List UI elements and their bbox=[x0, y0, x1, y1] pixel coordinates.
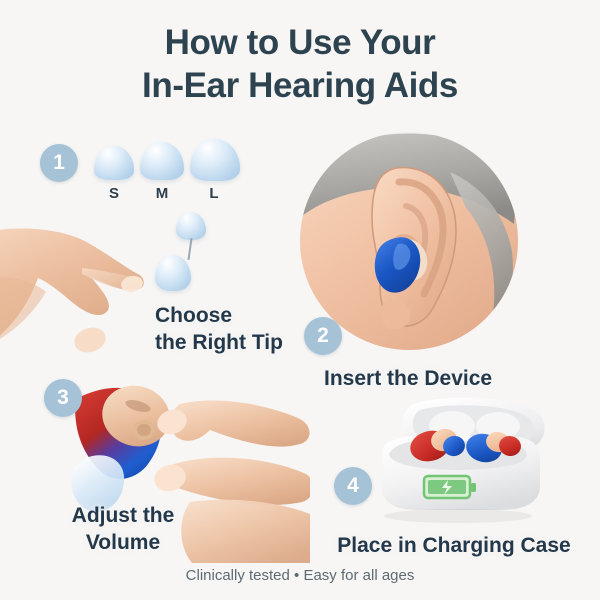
step-3-caption-line-2: Volume bbox=[28, 530, 218, 557]
charging-case-illustration bbox=[358, 398, 558, 528]
footer-tagline: Clinically tested • Easy for all ages bbox=[0, 567, 600, 584]
ear-illustration bbox=[300, 132, 518, 350]
title-line-2: In-Ear Hearing Aids bbox=[0, 65, 600, 108]
step-3-number: 3 bbox=[57, 386, 69, 410]
step-2-caption: Insert the Device bbox=[324, 366, 574, 393]
step-1-caption: Choose the Right Tip bbox=[155, 303, 325, 357]
title-line-1: How to Use Your bbox=[0, 22, 600, 65]
step-4-badge: 4 bbox=[334, 467, 372, 505]
tip-label-m: M bbox=[148, 185, 176, 202]
step-3-badge: 3 bbox=[44, 379, 82, 417]
step-4-caption: Place in Charging Case bbox=[318, 533, 590, 560]
step-1-caption-line-2: the Right Tip bbox=[155, 330, 325, 357]
step-4-caption-line-1: Place in Charging Case bbox=[318, 533, 590, 560]
ear-tip-small-icon bbox=[94, 146, 134, 180]
step-1-badge: 1 bbox=[40, 144, 78, 182]
tip-label-s: S bbox=[100, 185, 128, 202]
step-3-caption: Adjust the Volume bbox=[28, 503, 218, 557]
page-title: How to Use Your In-Ear Hearing Aids bbox=[0, 22, 600, 107]
infographic-canvas: How to Use Your In-Ear Hearing Aids 1 S … bbox=[0, 0, 600, 600]
tip-label-l: L bbox=[200, 185, 228, 202]
step-3-caption-line-1: Adjust the bbox=[28, 503, 218, 530]
step-2-caption-line-1: Insert the Device bbox=[324, 366, 574, 393]
ear-tip-medium-icon bbox=[140, 142, 184, 180]
step-4-number: 4 bbox=[347, 474, 359, 498]
ear-tip-large-icon bbox=[190, 139, 240, 181]
battery-charging-icon bbox=[424, 476, 476, 498]
ear-photo-circle bbox=[300, 132, 518, 350]
step-1-caption-line-1: Choose bbox=[155, 303, 325, 330]
step-1-number: 1 bbox=[53, 151, 65, 175]
